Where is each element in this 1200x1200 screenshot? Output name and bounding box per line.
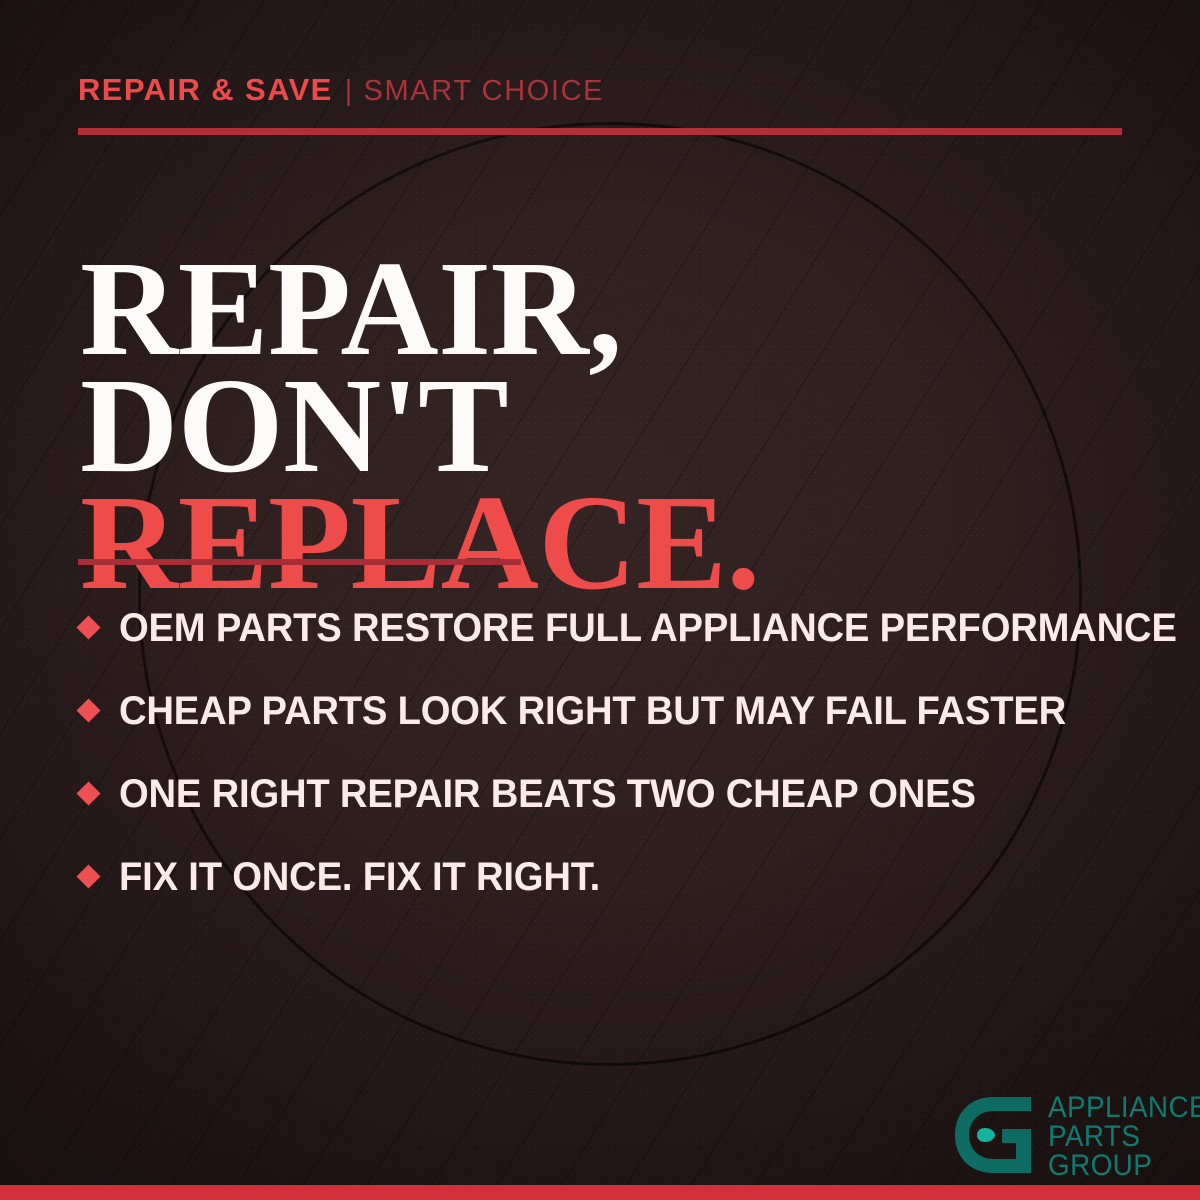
- diamond-icon: [76, 615, 100, 639]
- logo-word-line-3: GROUP: [1048, 1152, 1200, 1181]
- list-item-label: CHEAP PARTS LOOK RIGHT BUT MAY FAIL FAST…: [119, 691, 1066, 731]
- list-item-label: ONE RIGHT REPAIR BEATS TWO CHEAP ONES: [119, 774, 976, 814]
- logo-word-line-1: APPLIANCE: [1048, 1094, 1200, 1123]
- eyebrow-strong-text: REPAIR & SAVE: [78, 72, 333, 107]
- list-item: ONE RIGHT REPAIR BEATS TWO CHEAP ONES: [80, 752, 1150, 835]
- diamond-icon: [76, 698, 100, 722]
- poster-content: REPAIR & SAVE| SMART CHOICE REPAIR, DON'…: [0, 0, 1200, 1200]
- list-item: OEM PARTS RESTORE FULL APPLIANCE PERFORM…: [80, 586, 1150, 669]
- appliance-parts-group-g-icon: [950, 1092, 1036, 1178]
- page-title: REPAIR, DON'T REPLACE.: [80, 251, 760, 602]
- headline-divider-rule: [78, 559, 521, 565]
- benefits-list: OEM PARTS RESTORE FULL APPLIANCE PERFORM…: [80, 586, 1150, 918]
- logo-word-line-2: PARTS: [1048, 1123, 1200, 1152]
- list-item-label: FIX IT ONCE. FIX IT RIGHT.: [119, 857, 600, 897]
- list-item: FIX IT ONCE. FIX IT RIGHT.: [80, 835, 1150, 918]
- bottom-accent-bar: [0, 1185, 1200, 1200]
- list-item-label: OEM PARTS RESTORE FULL APPLIANCE PERFORM…: [119, 608, 1177, 648]
- eyebrow-header: REPAIR & SAVE| SMART CHOICE: [78, 74, 604, 106]
- diamond-icon: [76, 864, 100, 888]
- poster-canvas: REPAIR & SAVE| SMART CHOICE REPAIR, DON'…: [0, 0, 1200, 1200]
- brand-logo: APPLIANCE PARTS GROUP: [950, 1092, 1200, 1180]
- header-divider-rule: [78, 128, 1122, 135]
- list-item: CHEAP PARTS LOOK RIGHT BUT MAY FAIL FAST…: [80, 669, 1150, 752]
- headline-line-3-accent: REPLACE.: [80, 485, 760, 602]
- brand-logo-wordmark: APPLIANCE PARTS GROUP: [1048, 1094, 1200, 1180]
- diamond-icon: [76, 781, 100, 805]
- eyebrow-light-text: | SMART CHOICE: [345, 75, 604, 107]
